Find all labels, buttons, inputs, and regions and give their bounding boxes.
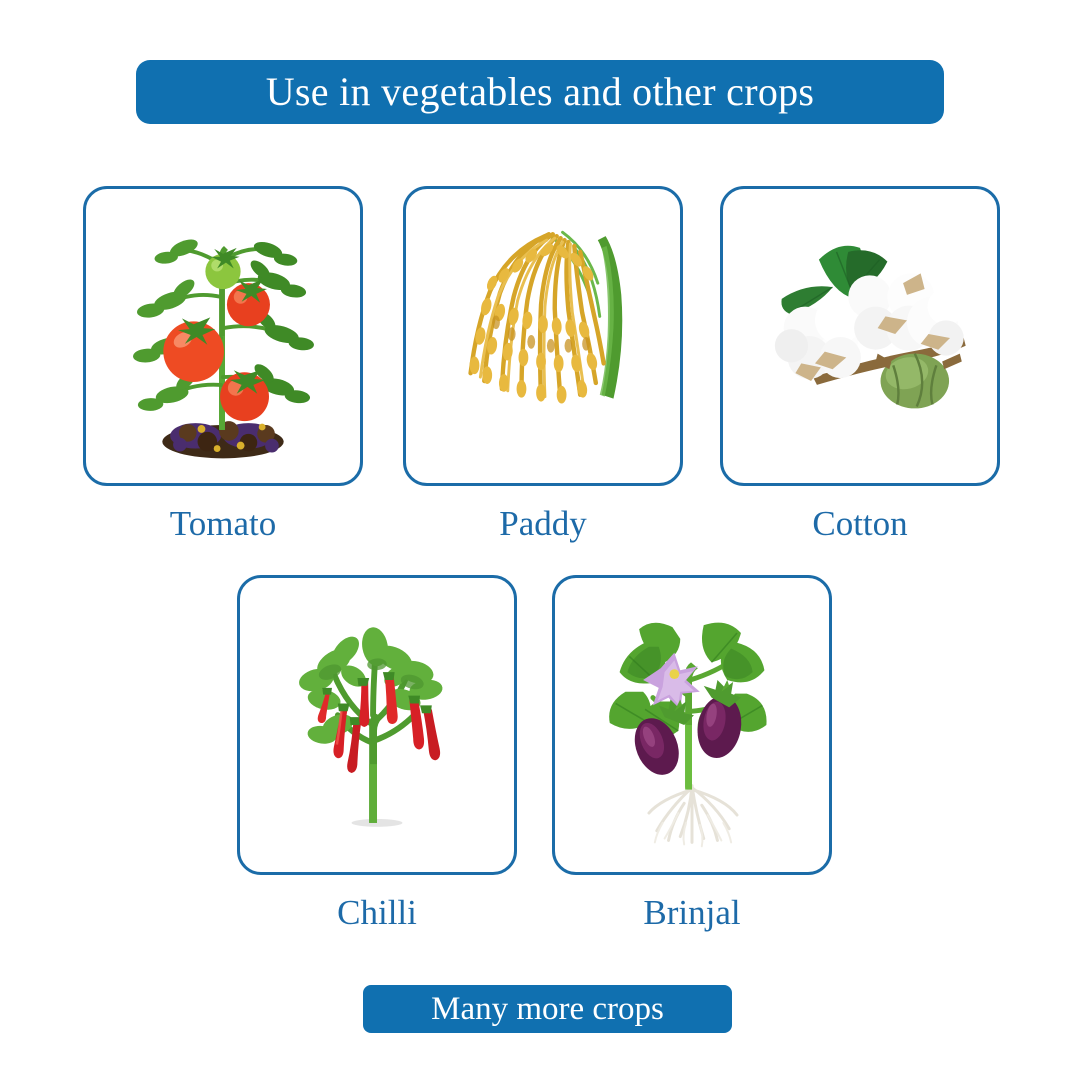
cotton-boll-illustration	[723, 189, 997, 483]
footer-badge: Many more crops	[363, 985, 732, 1033]
brinjal-eggplant-plant-illustration	[555, 578, 829, 872]
header-badge: Use in vegetables and other crops	[136, 60, 944, 124]
crop-card-brinjal[interactable]	[552, 575, 832, 875]
crop-card-cotton[interactable]	[720, 186, 1000, 486]
infographic-page: Use in vegetables and other crops	[0, 0, 1080, 1080]
footer-title: Many more crops	[431, 993, 664, 1026]
crop-card-paddy[interactable]	[403, 186, 683, 486]
crop-card-chilli[interactable]	[237, 575, 517, 875]
crop-label-cotton: Cotton	[720, 506, 1000, 541]
crop-label-chilli: Chilli	[237, 895, 517, 930]
page-title: Use in vegetables and other crops	[266, 72, 815, 112]
paddy-rice-panicle-illustration	[406, 189, 680, 483]
tomato-plant-illustration	[86, 189, 360, 483]
crop-card-tomato[interactable]	[83, 186, 363, 486]
crop-label-tomato: Tomato	[83, 506, 363, 541]
crop-label-paddy: Paddy	[403, 506, 683, 541]
chilli-plant-illustration	[240, 578, 514, 872]
crop-label-brinjal: Brinjal	[552, 895, 832, 930]
